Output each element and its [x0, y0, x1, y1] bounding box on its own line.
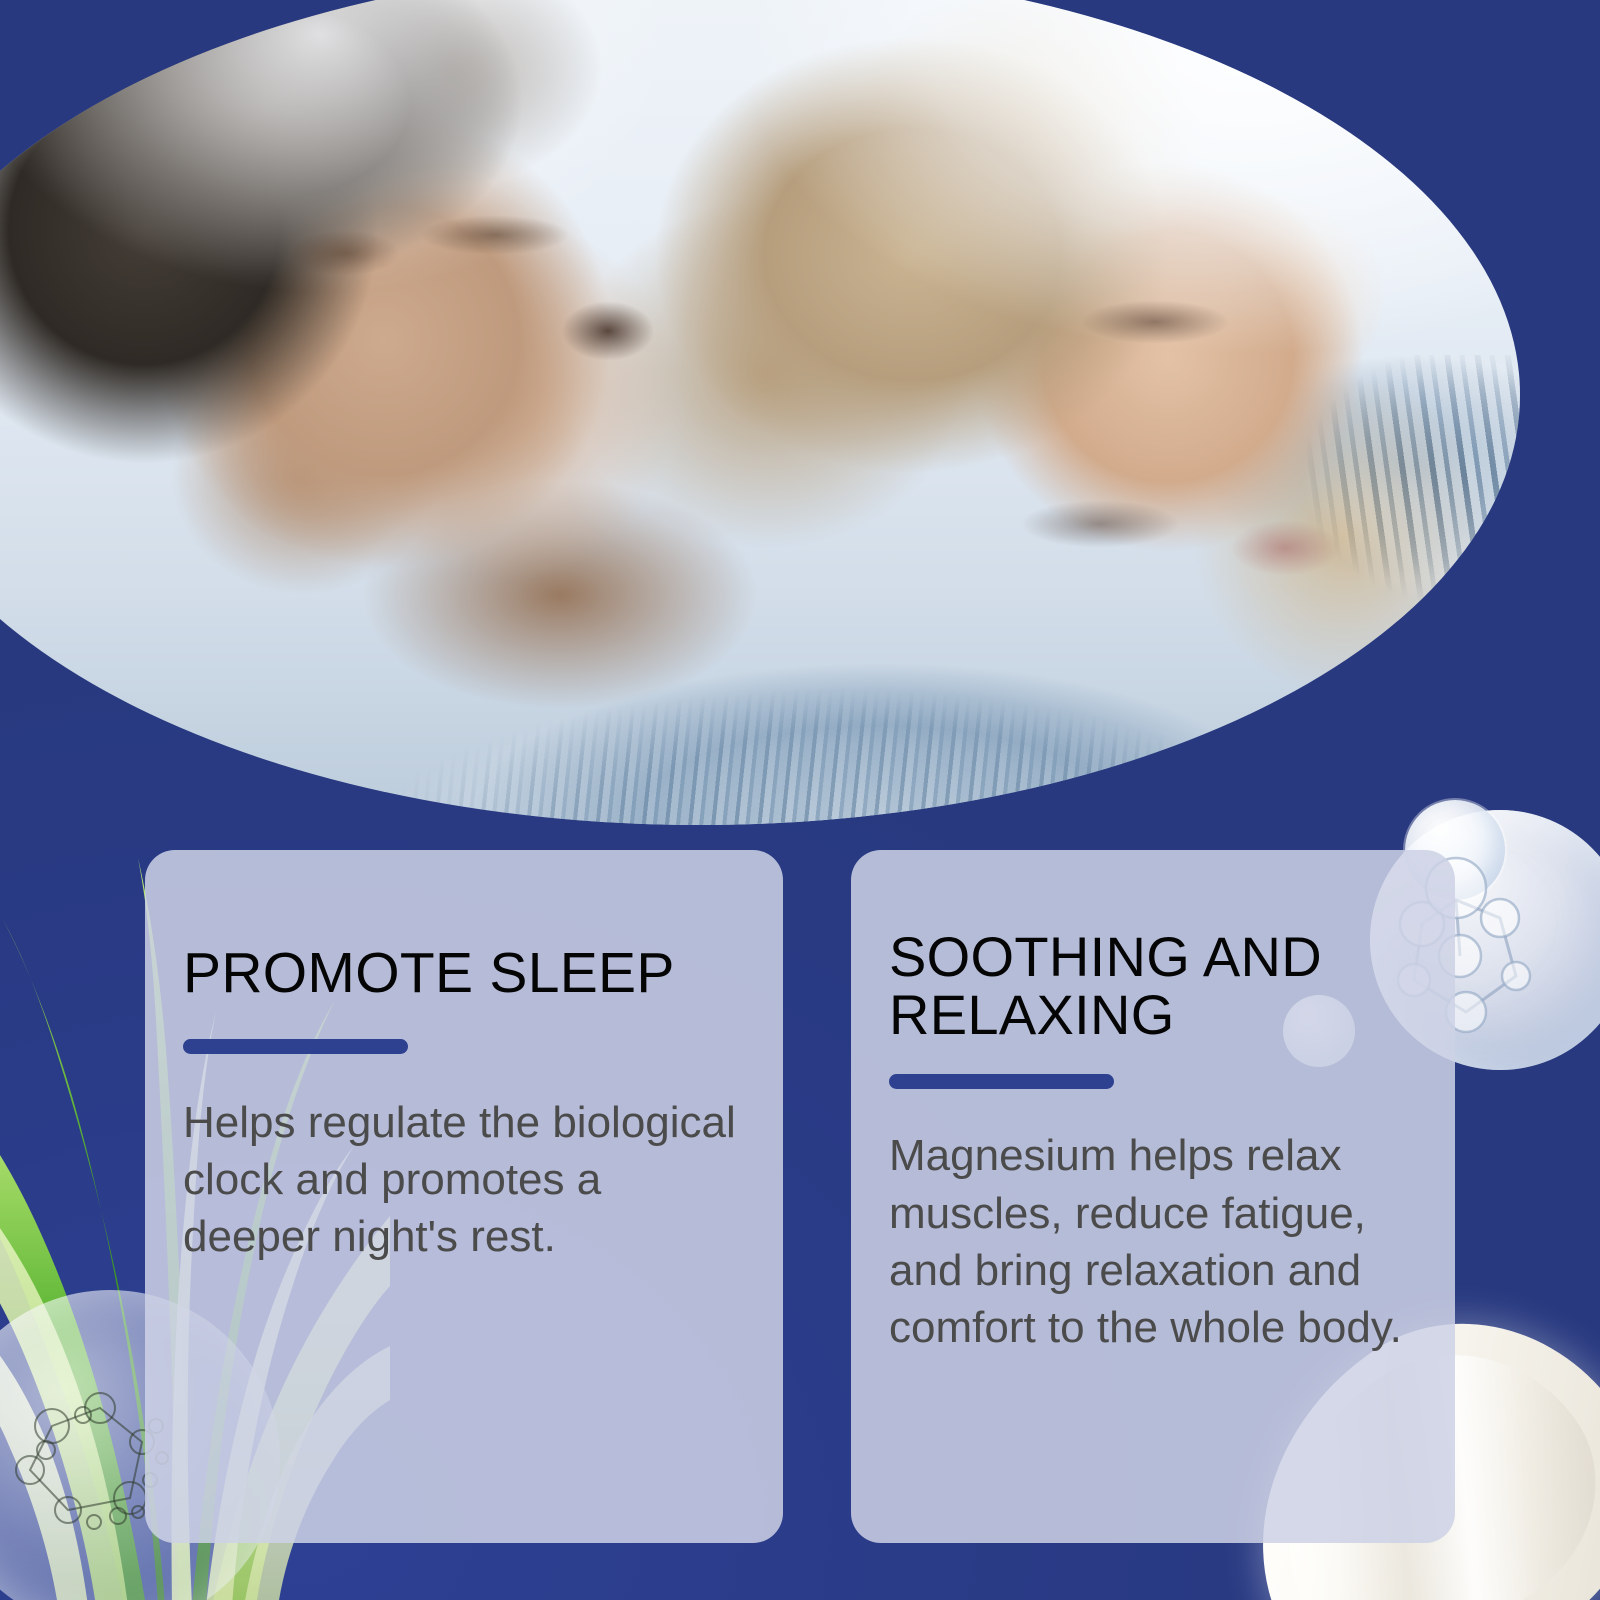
eye-accent-right-2	[1020, 500, 1180, 548]
card-body-soothing-relaxing: Magnesium helps relax muscles, reduce fa…	[889, 1127, 1413, 1356]
card-body-promote-sleep: Helps regulate the biological clock and …	[183, 1094, 741, 1266]
accent-bar-soothing-relaxing	[889, 1074, 1114, 1089]
card-title-soothing-relaxing: SOOTHING AND RELAXING	[889, 928, 1413, 1044]
card-title-promote-sleep: PROMOTE SLEEP	[183, 942, 741, 1006]
benefit-card-soothing-relaxing: SOOTHING AND RELAXING Magnesium helps re…	[851, 850, 1455, 1543]
benefit-card-promote-sleep: PROMOTE SLEEP Helps regulate the biologi…	[145, 850, 783, 1543]
lips-accent	[1230, 520, 1340, 576]
face-shadow-accent	[290, 230, 400, 276]
infographic-canvas: PROMOTE SLEEP Helps regulate the biologi…	[0, 0, 1600, 1600]
eye-accent-left	[420, 215, 570, 255]
accent-bar-promote-sleep	[183, 1039, 408, 1054]
eye-accent-right	[1080, 300, 1230, 344]
mouth-accent	[560, 300, 656, 362]
